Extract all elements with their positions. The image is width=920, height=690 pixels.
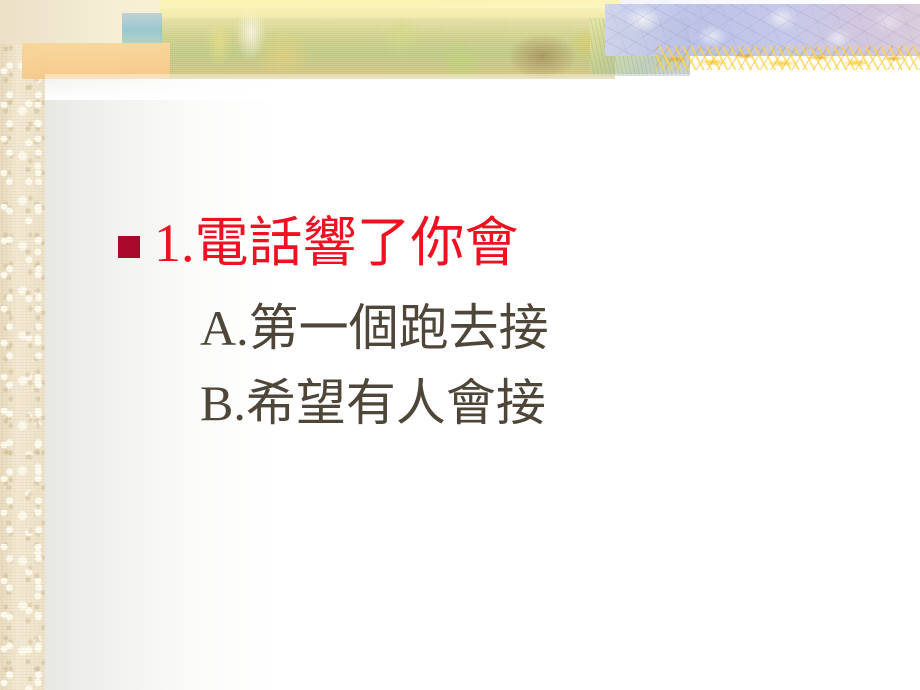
option-b: B.希望有人會接 — [200, 378, 546, 428]
slide-content: 1.電話響了你會 A.第一個跑去接 B.希望有人會接 — [0, 0, 920, 690]
square-bullet-icon — [118, 236, 140, 258]
option-a: A.第一個跑去接 — [200, 303, 549, 353]
presentation-slide: 1.電話響了你會 A.第一個跑去接 B.希望有人會接 — [0, 0, 920, 690]
question-text: 1.電話響了你會 — [154, 216, 519, 271]
question-line: 1.電話響了你會 — [118, 216, 519, 271]
